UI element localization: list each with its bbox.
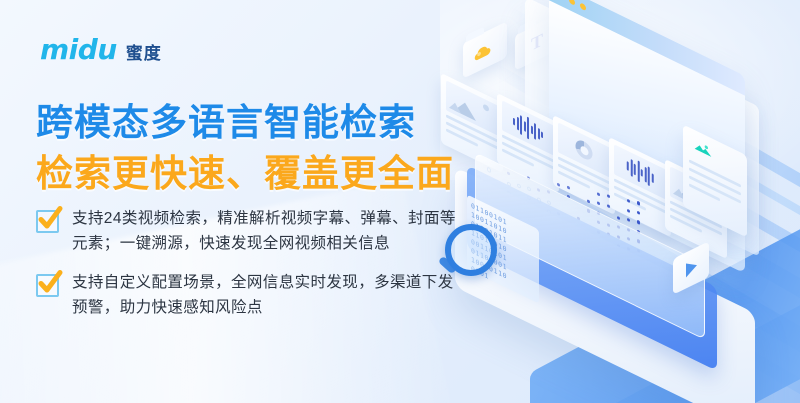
matrix-dot xyxy=(597,201,600,206)
hero-illustration: T xyxy=(415,0,800,403)
list-item: 支持自定义配置场景，全网信息实时发现，多渠道下发预警，助力快速感知风险点 xyxy=(36,270,456,320)
browser-dot xyxy=(569,0,575,6)
logo-chinese-name: 蜜度 xyxy=(126,45,162,62)
headline-secondary: 检索更快速、覆盖更全面 xyxy=(36,143,454,197)
matrix-dot xyxy=(617,215,620,220)
matrix-dot xyxy=(607,204,610,209)
check-square-icon xyxy=(36,274,59,297)
checkmark-glyph xyxy=(36,269,63,296)
teal-image-icon xyxy=(693,137,713,160)
check-square-icon xyxy=(36,210,59,233)
checkmark-glyph xyxy=(36,205,63,232)
waveform-icon xyxy=(513,110,543,147)
matrix-dot xyxy=(557,183,560,188)
matrix-dot xyxy=(587,199,590,204)
logo-wordmark: midu xyxy=(40,36,117,64)
matrix-dot xyxy=(567,185,570,190)
browser-dot xyxy=(558,0,564,1)
headline-primary: 跨模态多语言智能检索 xyxy=(36,92,416,146)
content-column: midu 蜜度 跨模态多语言智能检索 检索更快速、覆盖更全面 支持24类视频检索… xyxy=(0,0,470,403)
list-item-label: 支持24类视频检索，精准解析视频字幕、弹幕、封面等元素；一键溯源，快速发现全网视… xyxy=(72,206,456,256)
brand-logo: midu 蜜度 xyxy=(40,36,162,64)
list-item-label: 支持自定义配置场景，全网信息实时发现，多渠道下发预警，助力快速感知风险点 xyxy=(72,270,456,320)
pie-chart-icon xyxy=(576,137,593,162)
matrix-dot xyxy=(637,220,640,225)
sun-icon xyxy=(483,103,489,112)
browser-dot xyxy=(580,2,586,11)
promo-banner: T xyxy=(0,0,800,403)
list-item: 支持24类视频检索，精准解析视频字幕、弹幕、封面等元素；一键溯源，快速发现全网视… xyxy=(36,206,456,256)
waveform-icon xyxy=(627,155,654,189)
feature-list: 支持24类视频检索，精准解析视频字幕、弹幕、封面等元素；一键溯源，快速发现全网视… xyxy=(36,206,456,334)
matrix-dot xyxy=(627,218,630,223)
cloud-image-icon xyxy=(472,43,492,65)
